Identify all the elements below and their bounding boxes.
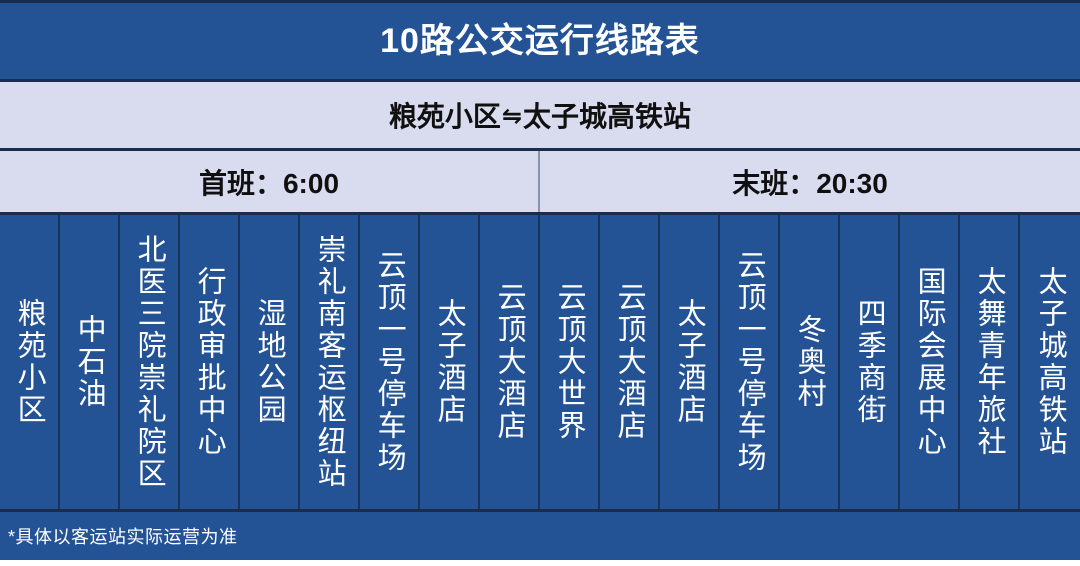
station-cell[interactable]: 云顶一号停车场 xyxy=(720,215,780,509)
bus-route-table: 10路公交运行线路表 粮苑小区⇋太子城高铁站 首班：6:00 末班：20:30 … xyxy=(0,0,1080,566)
station-name-label: 粮苑小区 xyxy=(12,298,46,426)
route-endpoints-row: 粮苑小区⇋太子城高铁站 xyxy=(0,82,1080,151)
station-name-label: 中石油 xyxy=(72,314,106,410)
first-departure-cell: 首班：6:00 xyxy=(0,151,540,212)
station-cell[interactable]: 云顶大世界 xyxy=(540,215,600,509)
station-cell[interactable]: 四季商街 xyxy=(840,215,900,509)
station-cell[interactable]: 湿地公园 xyxy=(240,215,300,509)
last-departure-cell: 末班：20:30 xyxy=(540,151,1080,212)
station-cell[interactable]: 行政审批中心 xyxy=(180,215,240,509)
station-name-label: 云顶大酒店 xyxy=(492,282,526,442)
station-name-label: 四季商街 xyxy=(852,298,886,426)
station-name-label: 太子酒店 xyxy=(432,298,466,426)
page-title: 10路公交运行线路表 xyxy=(380,24,700,58)
station-name-label: 北医三院崇礼院区 xyxy=(132,234,166,490)
station-cell[interactable]: 冬奥村 xyxy=(780,215,840,509)
station-cell[interactable]: 北医三院崇礼院区 xyxy=(120,215,180,509)
station-name-label: 崇礼南客运枢纽站 xyxy=(312,234,346,490)
station-name-label: 太子城高铁站 xyxy=(1033,266,1067,458)
station-cell[interactable]: 太舞青年旅社 xyxy=(960,215,1020,509)
station-name-label: 云顶一号停车场 xyxy=(732,250,766,474)
bidirectional-arrow-icon: ⇋ xyxy=(501,102,523,131)
station-name-label: 云顶大酒店 xyxy=(612,282,646,442)
table-title-row: 10路公交运行线路表 xyxy=(0,0,1080,82)
station-cell[interactable]: 云顶大酒店 xyxy=(480,215,540,509)
station-name-label: 云顶大世界 xyxy=(552,282,586,442)
schedule-row: 首班：6:00 末班：20:30 xyxy=(0,151,1080,215)
footnote-row: *具体以客运站实际运营为准 xyxy=(0,512,1080,566)
station-name-label: 云顶一号停车场 xyxy=(372,250,406,474)
route-destination: 太子城高铁站 xyxy=(523,101,691,132)
footnote-text: *具体以客运站实际运营为准 xyxy=(8,523,238,549)
station-name-label: 太舞青年旅社 xyxy=(972,266,1006,458)
route-origin: 粮苑小区 xyxy=(389,101,501,132)
station-cell[interactable]: 太子酒店 xyxy=(420,215,480,509)
station-cell[interactable]: 太子城高铁站 xyxy=(1020,215,1080,509)
station-name-label: 冬奥村 xyxy=(792,314,826,410)
station-cell[interactable]: 国际会展中心 xyxy=(900,215,960,509)
station-cell[interactable]: 云顶大酒店 xyxy=(600,215,660,509)
station-cell[interactable]: 太子酒店 xyxy=(660,215,720,509)
stations-row: 粮苑小区中石油北医三院崇礼院区行政审批中心湿地公园崇礼南客运枢纽站云顶一号停车场… xyxy=(0,215,1080,512)
station-cell[interactable]: 崇礼南客运枢纽站 xyxy=(300,215,360,509)
station-name-label: 湿地公园 xyxy=(252,298,286,426)
station-cell[interactable]: 云顶一号停车场 xyxy=(360,215,420,509)
station-cell[interactable]: 粮苑小区 xyxy=(0,215,60,509)
station-name-label: 国际会展中心 xyxy=(912,266,946,458)
route-endpoints: 粮苑小区⇋太子城高铁站 xyxy=(389,95,691,135)
station-cell[interactable]: 中石油 xyxy=(60,215,120,509)
station-name-label: 行政审批中心 xyxy=(192,266,226,458)
station-name-label: 太子酒店 xyxy=(672,298,706,426)
